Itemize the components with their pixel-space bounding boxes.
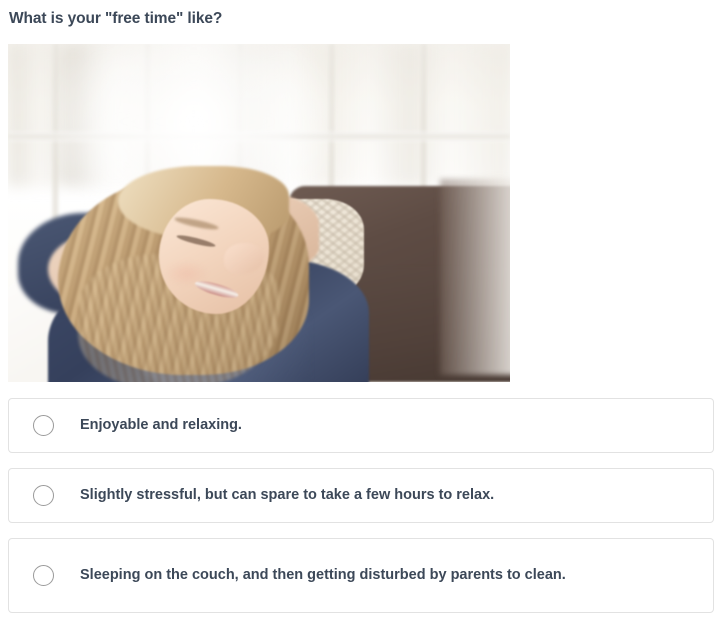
question-image: [8, 44, 510, 382]
radio-button-icon-3[interactable]: [33, 565, 54, 586]
answer-option-2[interactable]: Slightly stressful, but can spare to tak…: [8, 468, 714, 523]
couch-edge-highlight: [440, 179, 510, 375]
answer-options: Enjoyable and relaxing. Slightly stressf…: [8, 398, 714, 628]
question-title: What is your "free time" like?: [0, 0, 722, 29]
radio-button-icon-2[interactable]: [33, 485, 54, 506]
relaxing-woman-photo: [8, 44, 510, 382]
answer-option-label-2: Slightly stressful, but can spare to tak…: [80, 481, 494, 510]
answer-option-1[interactable]: Enjoyable and relaxing.: [8, 398, 714, 453]
answer-option-3[interactable]: Sleeping on the couch, and then getting …: [8, 538, 714, 613]
radio-button-icon-1[interactable]: [33, 415, 54, 436]
answer-option-label-3: Sleeping on the couch, and then getting …: [80, 561, 566, 590]
question-page: What is your "free time" like?: [0, 0, 722, 29]
answer-option-label-1: Enjoyable and relaxing.: [80, 411, 242, 440]
